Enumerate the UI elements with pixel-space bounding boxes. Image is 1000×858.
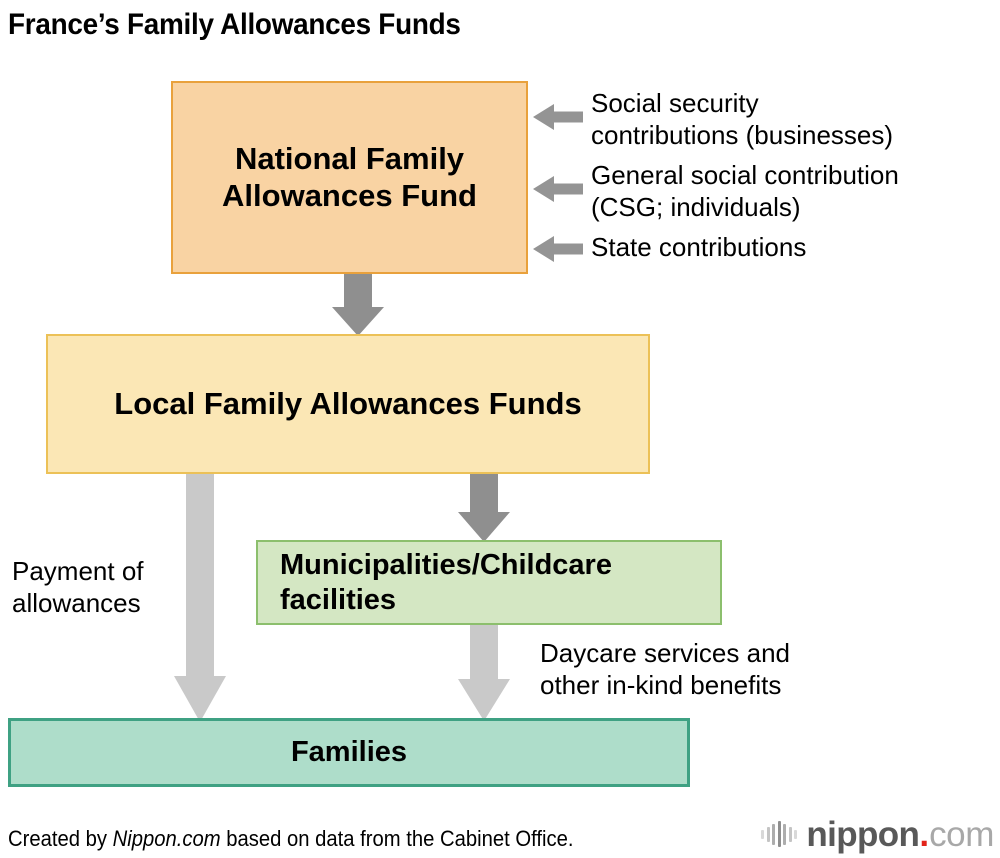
diagram-canvas: France’s Family Allowances Funds Nationa… (0, 0, 1000, 858)
node-municipalities-childcare-facilities: Municipalities/Childcare facilities (256, 540, 722, 625)
caption-suffix: based on data from the Cabinet Office. (221, 826, 574, 851)
arrow-local-to-municipalities (456, 474, 512, 542)
edge-label-payment-of-allowances: Payment of allowances (12, 556, 172, 619)
logo-tld: com (929, 817, 994, 852)
page-title: France’s Family Allowances Funds (8, 8, 461, 42)
arrow-head (533, 236, 554, 262)
node-families-label: Families (291, 735, 407, 769)
edge-label-daycare-services: Daycare services and other in-kind benef… (540, 638, 980, 701)
arrow-shaft (344, 274, 372, 307)
arrow-shaft (470, 474, 498, 512)
caption-emphasis: Nippon.com (113, 826, 221, 851)
arrow-head (332, 307, 384, 336)
input-label-social-security: Social security contributions (businesse… (591, 88, 993, 151)
logo-dot: . (919, 817, 929, 852)
nippon-com-logo: nippon . com (761, 812, 994, 856)
node-local-family-allowances-funds: Local Family Allowances Funds (46, 334, 650, 474)
input-arrow-social-security (533, 104, 583, 130)
arrow-national-to-local (330, 274, 386, 336)
arrow-shaft (470, 625, 498, 679)
arrow-shaft (554, 112, 583, 123)
node-families: Families (8, 718, 690, 787)
arrow-municipalities-to-families (456, 625, 512, 721)
node-national-family-allowances-fund: National Family Allowances Fund (171, 81, 528, 274)
arrow-head (533, 176, 554, 202)
input-arrow-general-social-contribution (533, 176, 583, 202)
arrow-head (533, 104, 554, 130)
input-arrow-state-contributions (533, 236, 583, 262)
node-national-label: National Family Allowances Fund (173, 141, 526, 214)
source-caption: Created by Nippon.com based on data from… (8, 826, 574, 852)
logo-wordmark: nippon (806, 817, 919, 852)
input-label-general-social-contribution: General social contribution (CSG; indivi… (591, 160, 993, 223)
arrow-head (458, 679, 510, 721)
node-local-label: Local Family Allowances Funds (114, 386, 581, 423)
arrow-local-to-families (172, 474, 228, 722)
nippon-logo-mark-icon (761, 821, 797, 847)
arrow-head (174, 676, 226, 722)
node-municipal-label: Municipalities/Childcare facilities (280, 548, 720, 616)
arrow-shaft (554, 184, 583, 195)
arrow-head (458, 512, 510, 542)
arrow-shaft (186, 474, 214, 676)
input-label-state-contributions: State contributions (591, 232, 993, 264)
arrow-shaft (554, 244, 583, 255)
caption-prefix: Created by (8, 826, 113, 851)
